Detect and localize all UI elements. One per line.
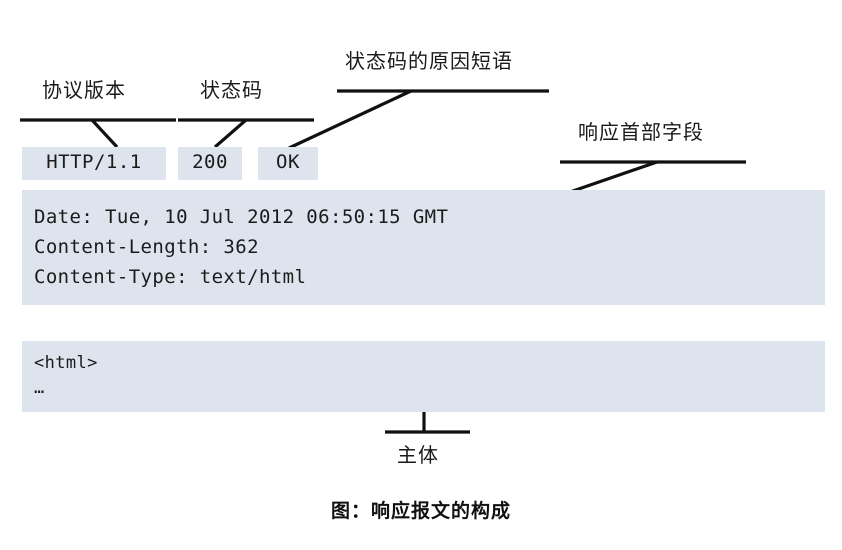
response-body-block: <html> … — [22, 341, 825, 412]
figure-caption: 图：响应报文的构成 — [0, 496, 842, 523]
annotation-header-fields-label: 响应首部字段 — [578, 116, 704, 145]
annotation-body-label: 主体 — [397, 439, 439, 468]
response-body-line-1: <html> — [34, 353, 98, 373]
leader-diagonal-reason — [289, 91, 411, 148]
diagram-canvas: HTTP/1.1 200 OK Date: Tue, 10 Jul 2012 0… — [0, 0, 842, 550]
response-headers-block: Date: Tue, 10 Jul 2012 06:50:15 GMT Cont… — [22, 190, 825, 305]
status-line-code-chip: 200 — [178, 147, 242, 180]
annotation-reason-phrase-label: 状态码的原因短语 — [345, 45, 513, 74]
leader-diagonal-header — [570, 162, 657, 192]
status-line-reason-text: OK — [258, 151, 318, 173]
response-headers-text: Date: Tue, 10 Jul 2012 06:50:15 GMT Cont… — [34, 202, 448, 292]
annotation-version-label: 协议版本 — [42, 74, 126, 103]
leader-diagonal-status — [215, 120, 246, 147]
status-line-version-chip: HTTP/1.1 — [22, 147, 166, 180]
status-line-code-text: 200 — [178, 151, 242, 173]
status-line-reason-chip: OK — [258, 147, 318, 180]
status-line-version-text: HTTP/1.1 — [22, 151, 166, 173]
response-body-line-2: … — [34, 378, 45, 398]
annotation-status-code-label: 状态码 — [200, 74, 263, 103]
leader-diagonal-version — [92, 120, 117, 147]
